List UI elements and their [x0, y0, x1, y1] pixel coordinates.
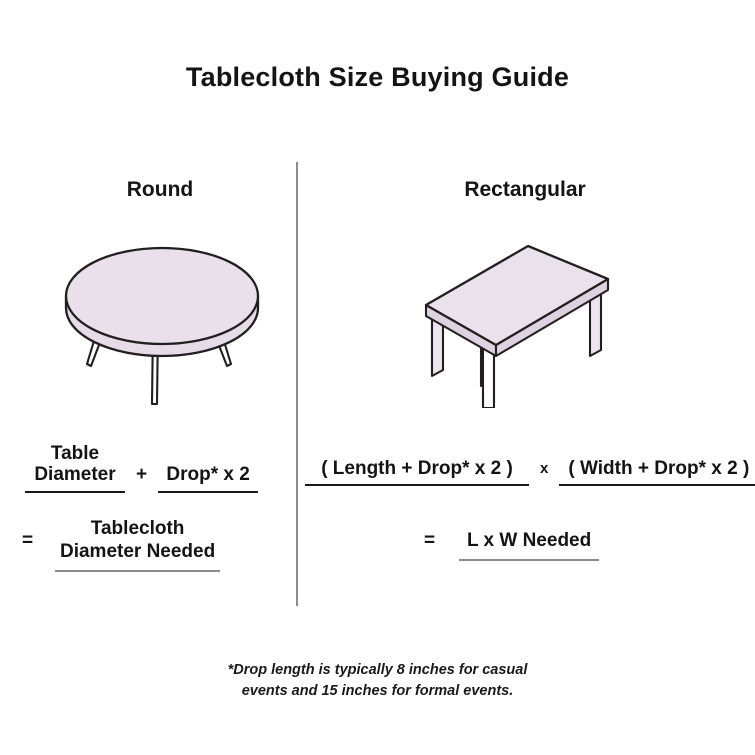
section-heading-rectangular: Rectangular: [400, 178, 650, 202]
round-result-line2: Diameter Needed: [60, 541, 215, 562]
round-formula-operator: +: [125, 464, 158, 493]
page-title: Tablecloth Size Buying Guide: [0, 62, 755, 93]
rect-result-label: L x W Needed: [459, 530, 599, 561]
rectangular-result-row: = L x W Needed: [424, 530, 599, 561]
footnote-line2: events and 15 inches for formal events.: [242, 683, 514, 699]
footnote-line1: *Drop length is typically 8 inches for c…: [228, 662, 528, 678]
round-result-line1: Tablecloth: [91, 518, 185, 539]
infographic-page: Tablecloth Size Buying Guide Round Recta…: [0, 0, 755, 755]
column-divider: [296, 162, 298, 606]
rect-formula-term-width: ( Width + Drop* x 2 ): [559, 458, 755, 486]
footnote: *Drop length is typically 8 inches for c…: [0, 660, 755, 702]
rectangular-formula-row: ( Length + Drop* x 2 ) x ( Width + Drop*…: [305, 458, 755, 486]
round-result-label: Tablecloth Diameter Needed: [55, 518, 220, 572]
rect-result-equals: =: [424, 530, 435, 560]
round-table-illustration: [58, 218, 273, 418]
section-heading-round: Round: [35, 178, 285, 202]
round-formula-row: Table Diameter + Drop* x 2: [25, 443, 258, 493]
rect-formula-term-length: ( Length + Drop* x 2 ): [305, 458, 529, 486]
round-formula-term-diameter: Table Diameter: [25, 443, 125, 493]
round-term-line2: Diameter: [34, 464, 115, 485]
round-result-row: = Tablecloth Diameter Needed: [22, 518, 220, 572]
round-formula-term-drop: Drop* x 2: [158, 464, 258, 492]
rect-formula-operator: x: [529, 460, 559, 486]
rectangular-table-illustration: [418, 228, 643, 413]
round-term-line1: Table: [51, 443, 99, 464]
round-table-surface: [66, 248, 258, 344]
round-result-equals: =: [22, 530, 33, 560]
